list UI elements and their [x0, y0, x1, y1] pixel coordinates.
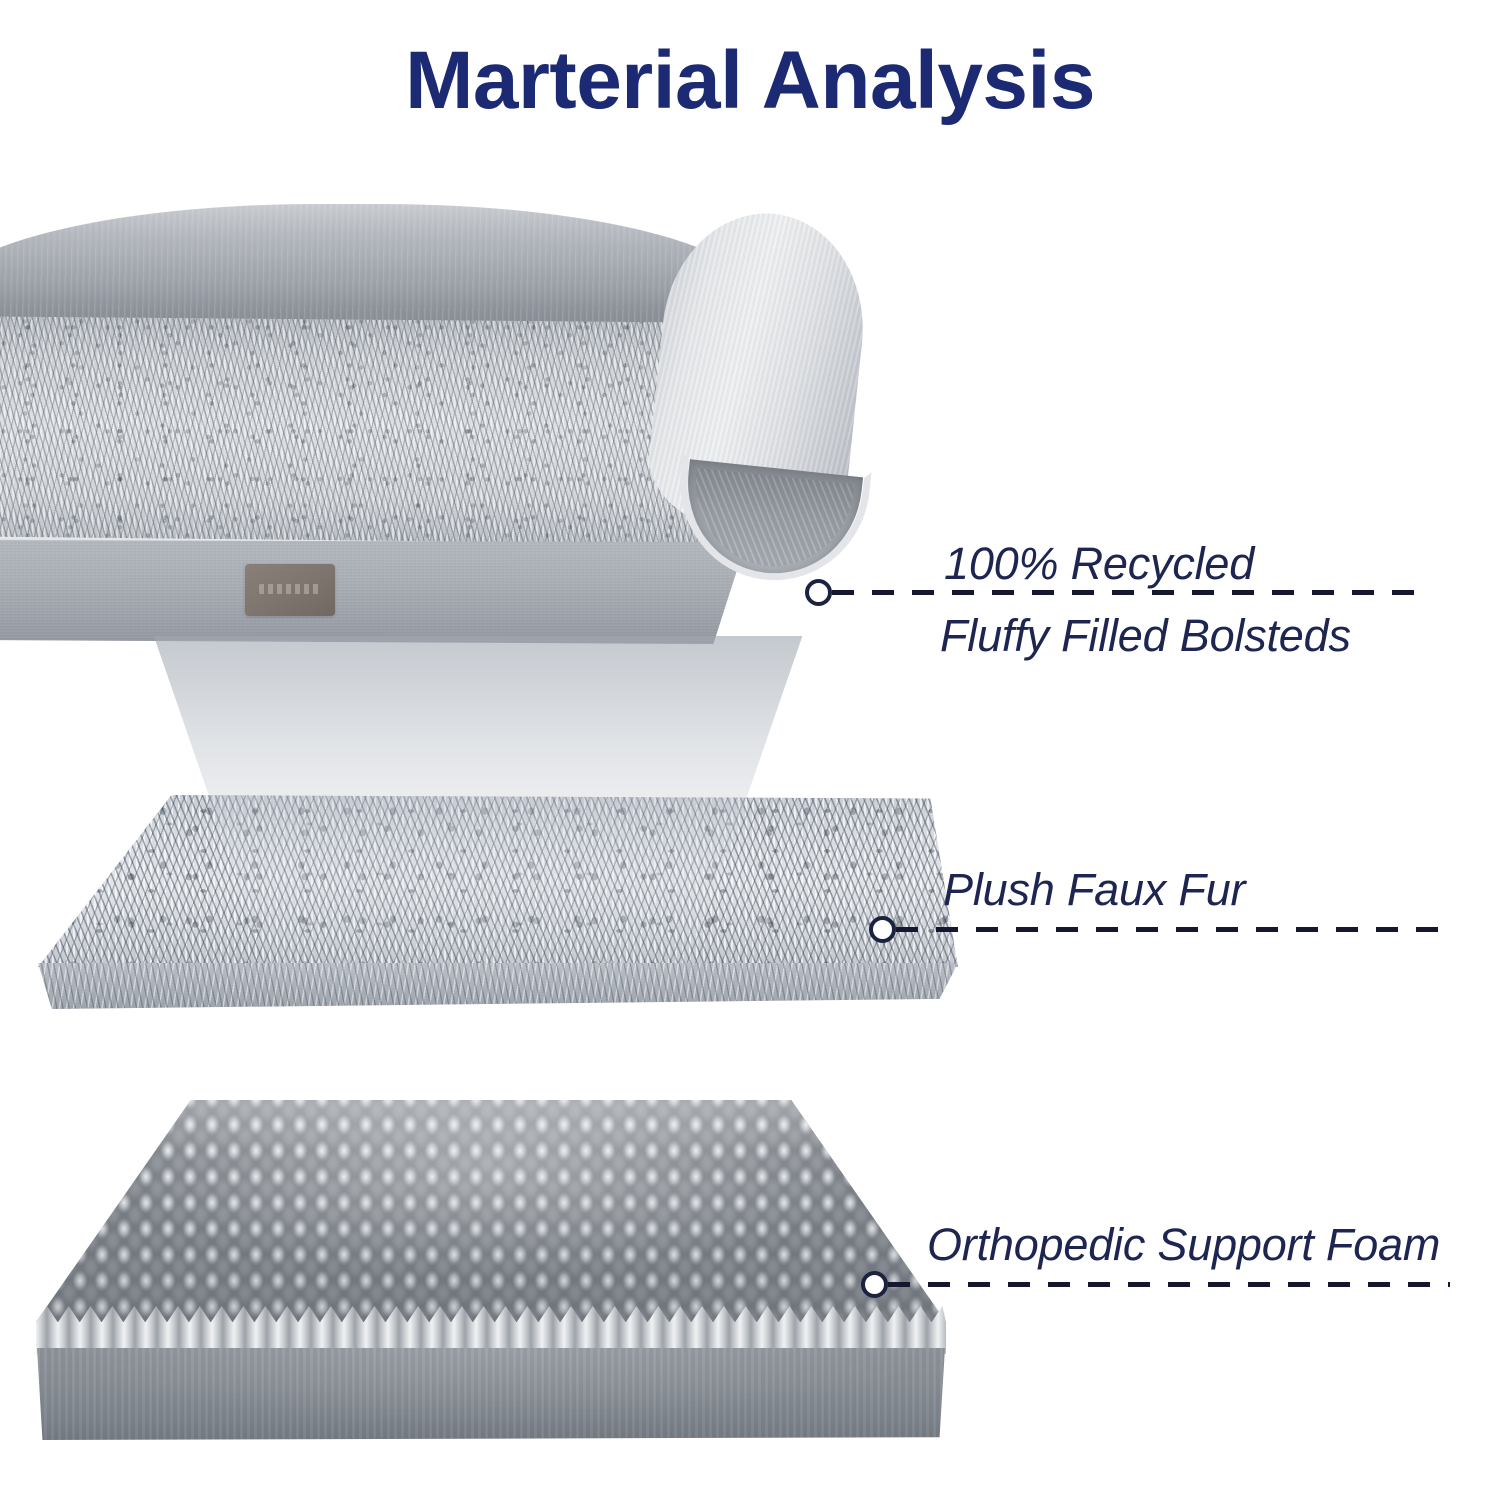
brand-label-patch [245, 564, 335, 616]
foam-base-slab [37, 1348, 945, 1440]
product-layer-orthopedic-foam [36, 1100, 946, 1400]
callout-label-faux-fur: Plush Faux Fur [943, 864, 1245, 916]
infographic-canvas: Marterial Analysis 100% Recycled Fluffy … [0, 0, 1500, 1500]
bed-base-panel [0, 540, 746, 644]
callout-label-recycled-line2: Fluffy Filled Bolsteds [940, 610, 1351, 662]
dashed-line-icon-faux-fur [896, 927, 1450, 932]
callout-dot-icon-faux-fur[interactable] [869, 916, 896, 943]
dashed-line-icon-foam [888, 1282, 1450, 1287]
callout-label-recycled-line1: 100% Recycled [944, 538, 1254, 590]
callout-dot-icon-recycled[interactable] [805, 579, 832, 606]
callout-label-foam: Orthopedic Support Foam [927, 1219, 1440, 1271]
product-layer-bolster-bed [0, 196, 940, 666]
callout-dot-icon-foam[interactable] [861, 1271, 888, 1298]
page-title: Marterial Analysis [0, 34, 1500, 128]
bed-fur-surface [0, 316, 740, 544]
dashed-line-icon-recycled [832, 590, 1432, 595]
foam-convoluted-top [36, 1100, 946, 1322]
